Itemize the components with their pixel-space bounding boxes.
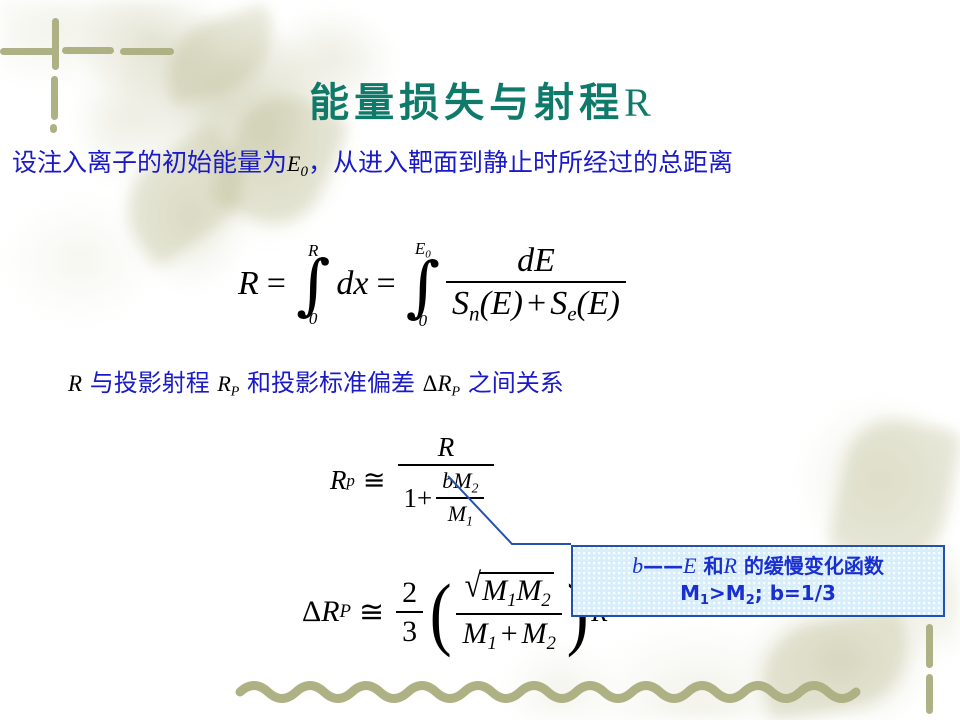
mass-M2-sub: 2 (547, 633, 556, 654)
eq-range-equals-2: = (368, 265, 403, 303)
integral-2: E0 ∫ 0 (406, 240, 440, 329)
eq-drp-lhs: R (321, 595, 339, 629)
mass-M2-sub: 2 (541, 590, 550, 611)
mass-M2: M (522, 617, 547, 650)
integral-2-glyph: ∫ (406, 261, 440, 312)
eq-rp-inner-denominator: M1 (442, 499, 479, 529)
slide-title: 能量损失与射程R (0, 70, 960, 128)
mass-M1-sub: 1 (466, 514, 473, 529)
callout-var-E: E (683, 553, 696, 578)
bamboo-horizontal-stem (0, 48, 56, 55)
integral-1-lower: 0 (309, 310, 318, 327)
stopping-power-nuclear-arg: (E) (480, 285, 523, 322)
eq-rp-lhs: R (330, 465, 347, 496)
callout-mid-text: 和 (697, 554, 724, 578)
stopping-power-electronic: S (550, 285, 567, 322)
eq-rp-inner-numerator: bM2 (436, 468, 484, 497)
eq-drp-approx: ≅ (351, 595, 392, 630)
slide-canvas: 能量损失与射程R 设注入离子的初始能量为E0，从进入靶面到静止时所经过的总距离 … (0, 0, 960, 720)
eq-drp-two: 2 (396, 576, 423, 611)
eq-rp-inner-fraction: bM2 M1 (436, 468, 484, 530)
param-b: b (442, 468, 453, 493)
stopping-power-electronic-sub: e (567, 302, 576, 326)
sqrt-group: √M1M2 (465, 572, 554, 612)
relation-var-dRp: R (437, 371, 451, 396)
eq-drp-lhs-sub: P (340, 601, 351, 623)
stopping-power-nuclear: S (452, 285, 469, 322)
eq-rp-den-one-plus: 1+ (404, 483, 433, 514)
integral-2-lower: 0 (419, 312, 428, 329)
callout-M1: M (680, 581, 700, 605)
subtitle-var-E-subscript: 0 (300, 164, 308, 180)
eq-drp-mass-fraction: √M1M2 M1+M2 (456, 570, 562, 655)
mass-M2: M (516, 574, 541, 607)
eq-range-numerator: dE (511, 242, 561, 281)
callout-M2-sub: 2 (746, 593, 755, 608)
callout-line-1: b——E 和R 的缓慢变化函数 (632, 552, 884, 580)
eq-drp-mass-denominator: M1+M2 (456, 615, 562, 655)
mass-M1: M (462, 617, 487, 650)
callout-line-2: M1>M2; b=1/3 (680, 580, 836, 610)
relation-delta: Δ (423, 371, 438, 396)
relation-text-2: 和投影标准偏差 (247, 369, 415, 397)
eq-drp-three: 3 (396, 613, 423, 649)
eq-range-dx: dx (332, 265, 368, 303)
callout-box: b——E 和R 的缓慢变化函数 M1>M2; b=1/3 (571, 545, 945, 617)
eq-rp-approx: ≅ (355, 465, 394, 496)
relation-text-1: 与投影射程 (90, 369, 210, 397)
equation-projected-range: Rp ≅ R 1+ bM2 M1 (330, 432, 498, 530)
eq-drp-two-thirds: 2 3 (396, 576, 423, 649)
callout-var-R: R (724, 553, 737, 578)
eq-range-equals-1: = (259, 265, 294, 303)
relation-var-Rp: R (217, 371, 230, 396)
paren-open: ( (430, 583, 452, 642)
eq-drp-sqrt-numerator: √M1M2 (459, 570, 560, 613)
subtitle-line: 设注入离子的初始能量为E0，从进入靶面到静止时所经过的总距离 (12, 150, 733, 180)
callout-M2: M (726, 581, 746, 605)
eq-range-denominator: Sn(E)+Se(E) (446, 283, 626, 327)
callout-param-b: b (632, 553, 643, 578)
integral-1: R ∫ 0 (296, 242, 330, 327)
bottom-wave-ornament (40, 660, 940, 720)
radicand: M1M2 (479, 572, 554, 612)
denominator-plus: + (523, 285, 550, 322)
relation-var-dRp-sub: P (452, 384, 461, 399)
subtitle-part1: 设注入离子的初始能量为 (12, 148, 287, 177)
bamboo-vertical-stem (926, 674, 933, 714)
stopping-power-nuclear-sub: n (469, 302, 480, 326)
bamboo-vertical-stem (926, 624, 933, 668)
eq-rp-lhs-sub: p (347, 471, 355, 491)
relation-var-Rp-sub: P (231, 384, 240, 399)
eq-range-fraction: dE Sn(E)+Se(E) (446, 242, 626, 327)
relation-text-3: 之间关系 (468, 369, 564, 397)
callout-gt: > (709, 581, 726, 605)
integral-1-glyph: ∫ (296, 259, 330, 310)
subtitle-var-E: E (287, 151, 300, 176)
background-leaf-shape (753, 608, 916, 720)
eq-range-lhs: R (238, 265, 259, 303)
radical-icon: √ (465, 569, 481, 615)
mass-M1: M (482, 574, 507, 607)
callout-text: 的缓慢变化函数 (737, 554, 884, 578)
bamboo-vertical-stem (52, 18, 59, 70)
relation-var-R: R (68, 371, 82, 396)
callout-tail: ; b=1/3 (755, 581, 836, 605)
slide-title-cn: 能量损失与射程 (309, 79, 624, 126)
relation-line: R 与投影射程 RP 和投影标准偏差 ΔRP 之间关系 (68, 371, 564, 399)
mass-M1: M (448, 501, 466, 526)
bamboo-horizontal-stem (120, 48, 174, 55)
equation-range: R = R ∫ 0 dx = E0 ∫ 0 dE Sn(E)+Se(E) (238, 240, 630, 329)
mass-M1-sub: 1 (487, 633, 496, 654)
mass-M2-sub: 2 (472, 480, 479, 495)
denominator-plus: + (497, 617, 522, 650)
callout-dash: —— (643, 554, 683, 578)
eq-rp-numerator: R (432, 432, 461, 464)
eq-drp-delta: Δ (302, 595, 321, 629)
bamboo-horizontal-stem (62, 47, 114, 54)
stopping-power-electronic-arg: (E) (577, 285, 620, 322)
eq-rp-outer-fraction: R 1+ bM2 M1 (398, 432, 495, 530)
mass-M2: M (453, 468, 471, 493)
slide-title-symbol: R (624, 80, 651, 125)
eq-rp-denominator: 1+ bM2 M1 (398, 466, 495, 530)
callout-M1-sub: 1 (700, 593, 709, 608)
subtitle-part2: ，从进入靶面到静止时所经过的总距离 (308, 148, 733, 177)
